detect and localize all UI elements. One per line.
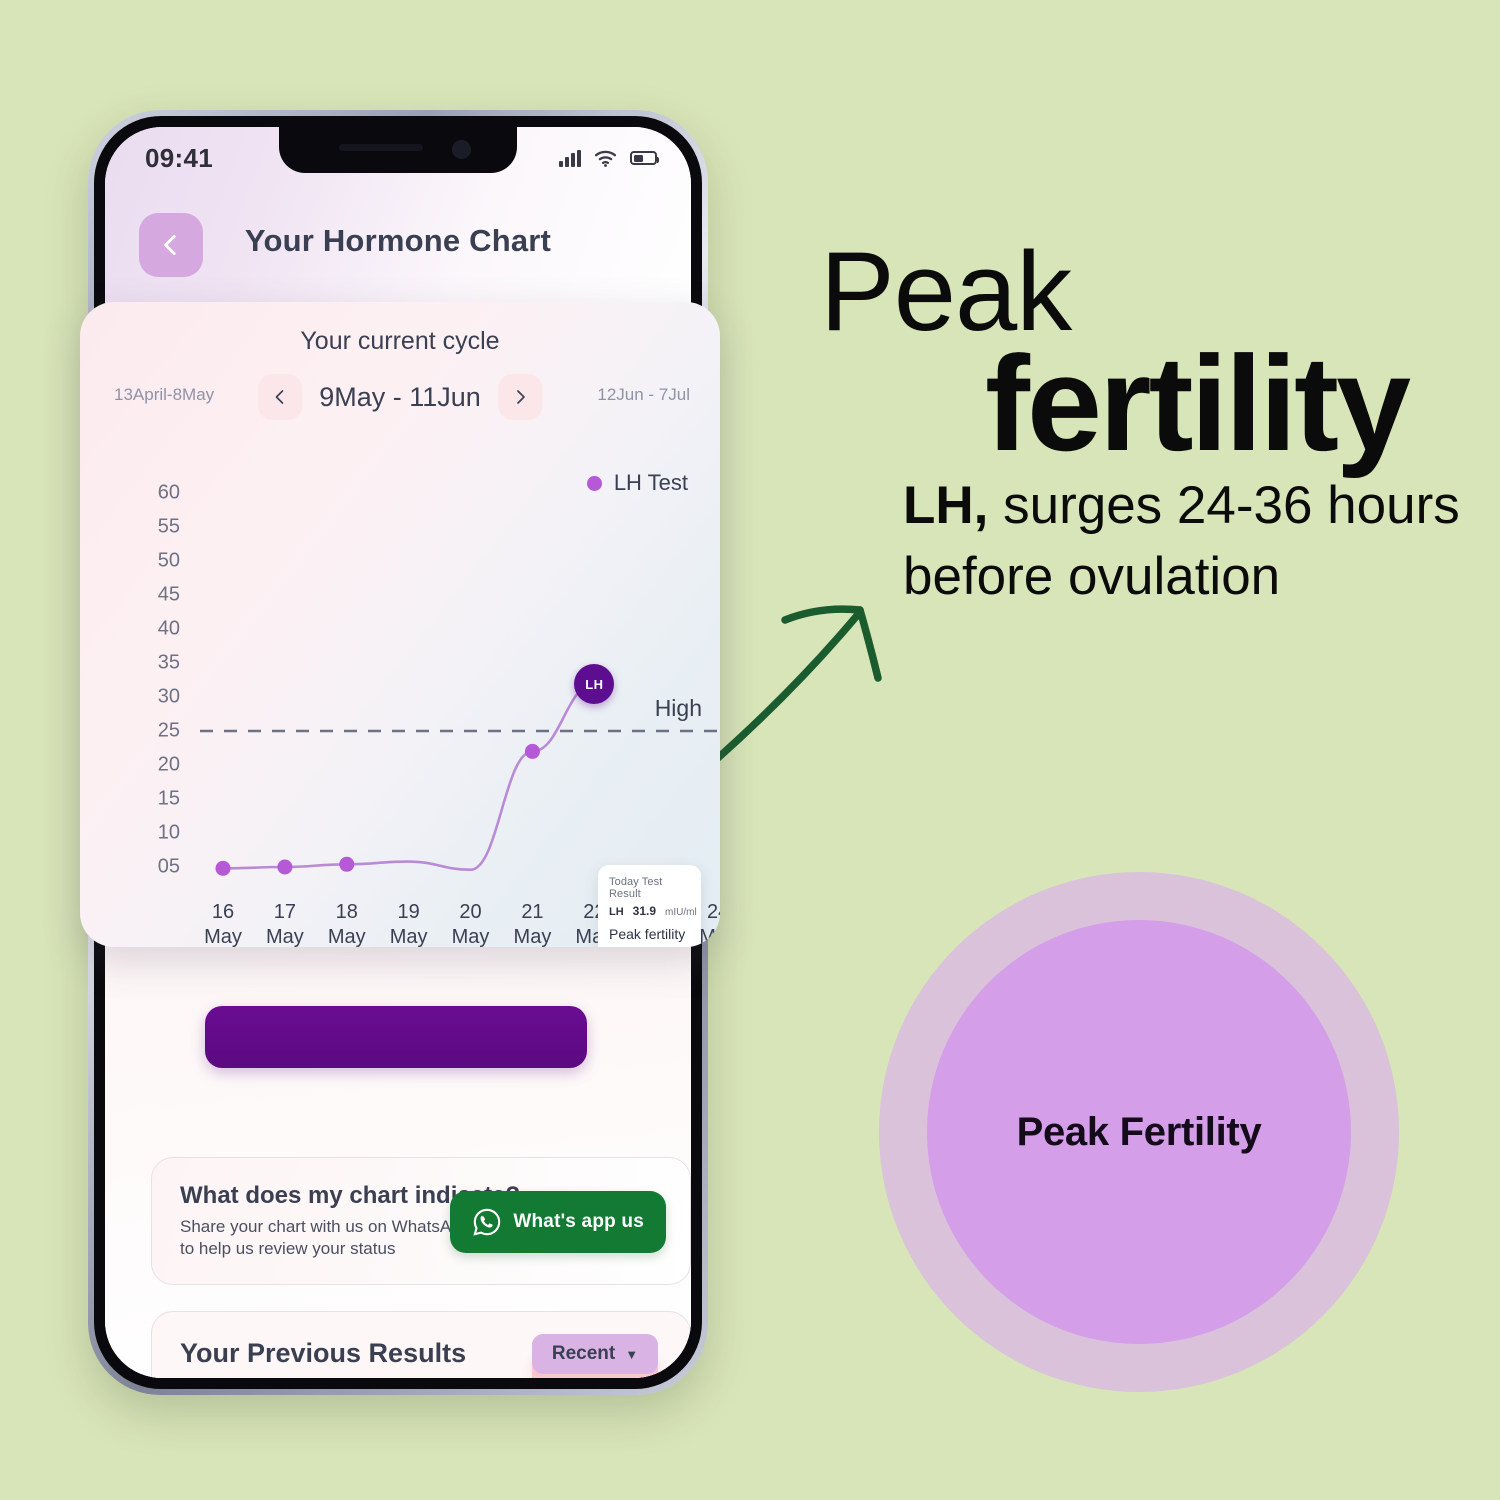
y-axis-tick: 10 — [132, 822, 180, 845]
threshold-label: High — [655, 695, 702, 722]
y-axis-tick: 55 — [132, 516, 180, 539]
peak-fertility-badge: Peak Fertility — [879, 872, 1399, 1392]
data-point-marker[interactable] — [339, 857, 354, 872]
chevron-down-icon: ▼ — [625, 1347, 638, 1362]
tooltip-value-row: LH 31.9 mIU/ml — [609, 904, 690, 918]
front-camera-icon — [452, 140, 471, 159]
plot-area: 60555045403530252015100516May17May18May1… — [80, 302, 720, 947]
status-icons — [559, 150, 657, 167]
tooltip-title: Today Test Result — [609, 876, 690, 900]
wifi-icon — [594, 150, 617, 167]
y-axis-tick: 30 — [132, 686, 180, 709]
y-axis-tick: 05 — [132, 856, 180, 879]
y-axis-tick: 45 — [132, 584, 180, 607]
signal-bars-icon — [559, 150, 581, 167]
lh-highlight-marker[interactable]: LH — [574, 664, 614, 704]
series-line-lh — [223, 684, 594, 870]
indicate-subtitle: Share your chart with us on WhatsApp to … — [180, 1216, 480, 1260]
whatsapp-button[interactable]: What's app us — [450, 1191, 666, 1253]
previous-results-title: Your Previous Results — [180, 1338, 466, 1369]
page-title: Your Hormone Chart — [105, 223, 691, 259]
today-test-tooltip: Today Test Result LH 31.9 mIU/ml Peak fe… — [598, 865, 701, 947]
x-axis-tick: 20May — [440, 900, 502, 947]
promo-subhead: LH, surges 24-36 hours before ovulation — [903, 470, 1463, 612]
dropdown-selected-value[interactable]: Recent ▼ — [532, 1334, 658, 1374]
previous-results-card: Your Previous Results LH Test 04 Jan, 24… — [151, 1311, 691, 1378]
peak-fertility-badge-inner: Peak Fertility — [927, 920, 1351, 1344]
phone-notch — [279, 127, 517, 173]
y-axis-tick: 50 — [132, 550, 180, 573]
peak-fertility-badge-label: Peak Fertility — [1017, 1110, 1262, 1155]
data-point-marker[interactable] — [277, 860, 292, 875]
whatsapp-icon — [472, 1207, 502, 1237]
earpiece-speaker — [339, 144, 423, 151]
x-axis-tick: 19May — [378, 900, 440, 947]
data-point-marker[interactable] — [216, 861, 231, 876]
primary-cta-button[interactable] — [205, 1006, 587, 1068]
x-axis-tick: 17May — [254, 900, 316, 947]
data-point-marker[interactable] — [525, 744, 540, 759]
status-time: 09:41 — [145, 143, 213, 174]
y-axis-tick: 40 — [132, 618, 180, 641]
whatsapp-label: What's app us — [513, 1211, 644, 1233]
y-axis-tick: 20 — [132, 754, 180, 777]
hormone-chart-card: Your current cycle 13April-8May 9May - 1… — [80, 302, 720, 947]
tooltip-status: Peak fertility — [609, 926, 690, 942]
app-header: Your Hormone Chart — [105, 201, 691, 311]
x-axis-tick: 16May — [192, 900, 254, 947]
y-axis-tick: 60 — [132, 482, 180, 505]
x-axis-tick: 21May — [501, 900, 563, 947]
chart-indicate-card: What does my chart indicate? Share your … — [151, 1157, 691, 1285]
x-axis-tick: 18May — [316, 900, 378, 947]
subhead-bold: LH, — [903, 476, 988, 535]
tooltip-analyte: LH — [609, 906, 624, 918]
dropdown-selected-label: Recent — [552, 1343, 615, 1365]
tooltip-value: 31.9 — [633, 904, 656, 918]
recent-dropdown[interactable]: Last Cycle Last 3 Cycles mIU/ml Recent ▼ — [532, 1334, 658, 1374]
battery-icon — [630, 151, 657, 165]
y-axis-tick: 35 — [132, 652, 180, 675]
y-axis-tick: 15 — [132, 788, 180, 811]
y-axis-tick: 25 — [132, 720, 180, 743]
hand-drawn-arrow-icon — [700, 570, 920, 780]
tooltip-unit: mIU/ml — [665, 907, 697, 918]
headline-fertility: fertility — [985, 336, 1408, 471]
